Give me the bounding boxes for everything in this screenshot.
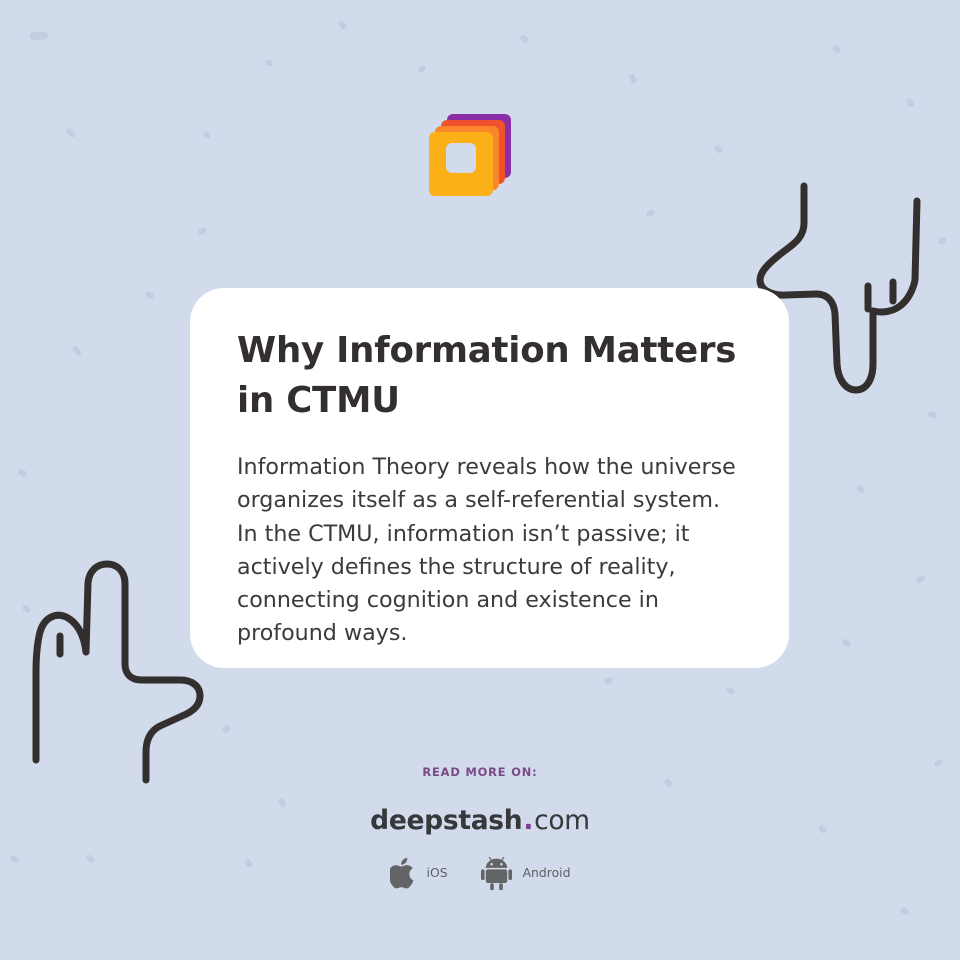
ios-label: iOS <box>427 867 448 879</box>
confetti-fleck <box>197 226 208 236</box>
confetti-fleck <box>519 34 530 44</box>
confetti-fleck <box>937 236 948 247</box>
confetti-fleck <box>264 59 274 67</box>
apple-icon <box>390 857 418 890</box>
deepstash-logo <box>428 104 520 196</box>
confetti-fleck <box>17 468 28 477</box>
brand-tld: com <box>534 805 590 836</box>
android-icon <box>481 857 514 890</box>
content-card: Why Information Matters in CTMU Informat… <box>190 288 789 668</box>
store-badges: iOS <box>0 857 960 890</box>
brand-dot: . <box>522 805 534 836</box>
confetti-fleck <box>338 20 348 31</box>
card-body-text: Information Theory reveals how the unive… <box>237 451 741 649</box>
confetti-fleck <box>645 209 656 218</box>
read-more-label: READ MORE ON: <box>0 765 960 779</box>
confetti-fleck <box>603 677 614 686</box>
poster-canvas: Why Information Matters in CTMU Informat… <box>0 0 960 960</box>
android-label: Android <box>523 867 571 879</box>
android-store-badge[interactable]: Android <box>481 857 571 890</box>
confetti-fleck <box>905 98 915 109</box>
ios-store-badge[interactable]: iOS <box>390 857 448 890</box>
confetti-fleck <box>855 484 865 495</box>
confetti-fleck <box>72 345 83 357</box>
confetti-fleck <box>927 410 938 419</box>
confetti-fleck <box>725 686 736 696</box>
confetti-fleck <box>915 574 926 584</box>
confetti-fleck <box>899 906 910 916</box>
confetti-fleck <box>221 724 232 734</box>
confetti-fleck <box>841 638 852 649</box>
brand-wordmark[interactable]: deepstash.com <box>0 808 960 835</box>
confetti-fleck <box>628 73 638 85</box>
footer: READ MORE ON: deepstash.com iOS <box>0 765 960 890</box>
brand-name: deepstash <box>370 805 522 836</box>
confetti-fleck <box>202 130 212 140</box>
confetti-fleck <box>144 290 155 300</box>
confetti-fleck <box>65 127 77 138</box>
pointing-hand-left-icon <box>18 558 216 790</box>
page-title: Why Information Matters in CTMU <box>237 326 741 425</box>
confetti-fleck <box>21 604 32 615</box>
confetti-fleck <box>30 31 49 40</box>
confetti-fleck <box>831 44 842 54</box>
confetti-fleck <box>417 64 427 73</box>
logo-inner-cutout <box>446 143 476 173</box>
confetti-fleck <box>713 144 723 155</box>
